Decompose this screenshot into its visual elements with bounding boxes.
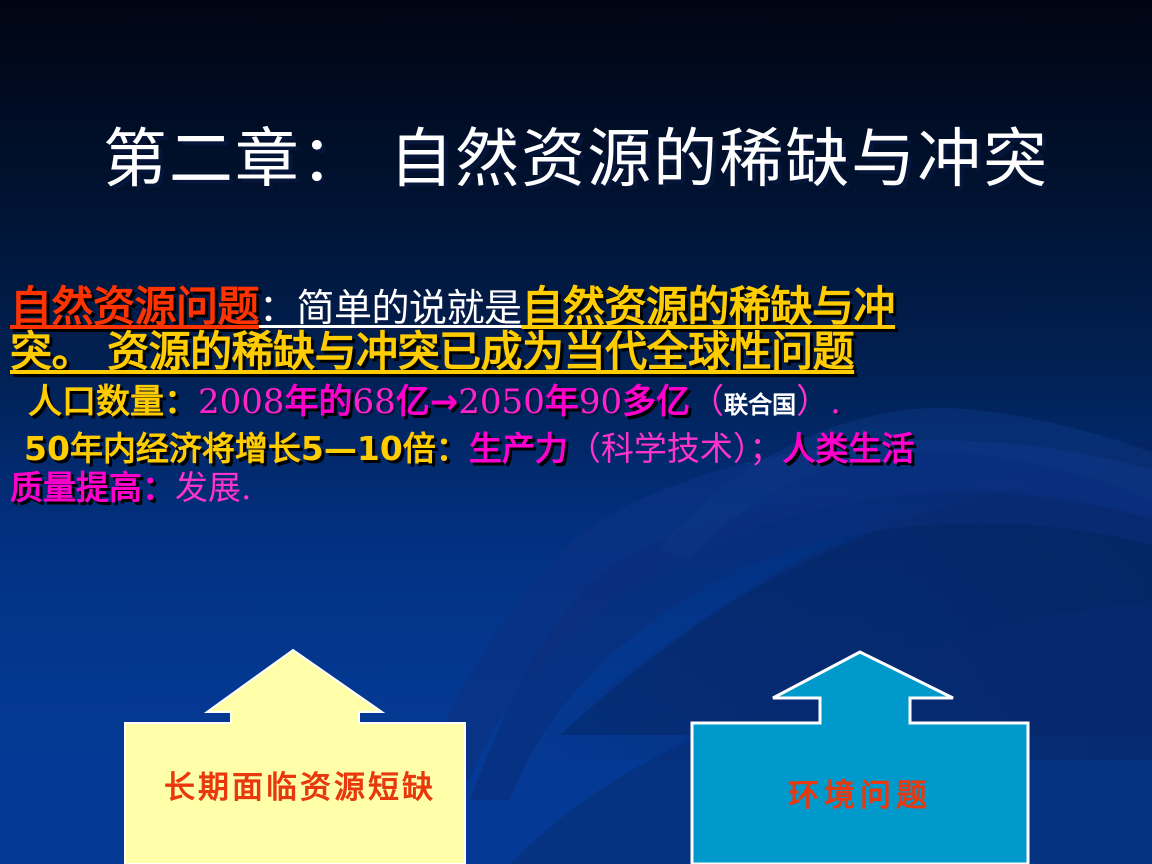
paragraph-economy: 50年内经济将增长5—10倍：生产力（科学技术）；人类生活 — [10, 432, 1142, 467]
paragraph-definition: 自然资源问题：简单的说就是自然资源的稀缺与冲 — [10, 285, 1142, 330]
economy-growth-label: 50年内经济将增长5—10倍： — [24, 429, 469, 468]
population-arrow-icon: → — [430, 382, 459, 422]
slide-body: 自然资源问题：简单的说就是自然资源的稀缺与冲 突。 资源的稀缺与冲突已成为当代全… — [0, 285, 1152, 506]
quality-value: 发展. — [175, 468, 252, 507]
source-paren-close: ） — [796, 382, 830, 422]
paragraph-population: 人口数量：2008年的68亿→2050年90多亿（联合国）. — [10, 384, 1142, 420]
population-year-2050: 2050 — [458, 382, 545, 422]
population-year-char: 年 — [545, 382, 579, 422]
definition-value-part2: 突。 资源的稀缺与冲突已成为当代全球性问题 — [10, 327, 854, 376]
economy-separator: ； — [749, 429, 782, 468]
population-of-text: 年的 — [285, 382, 353, 422]
right-arrow-icon — [670, 640, 1050, 864]
population-source: 联合国 — [724, 391, 796, 419]
quality-label: 质量提高： — [10, 468, 175, 507]
right-arrow-label: 环境问题 — [670, 770, 1050, 815]
right-arrow-shape[interactable]: 环境问题 — [670, 640, 1050, 864]
slide-title: 第二章： 自然资源的稀缺与冲突 — [0, 128, 1152, 192]
population-unit-yi-2: 多亿 — [622, 382, 690, 422]
population-label: 人口数量： — [28, 382, 198, 422]
paragraph-quality: 质量提高：发展. — [10, 471, 1142, 506]
population-unit-yi-1: 亿 — [396, 382, 430, 422]
population-period: . — [830, 382, 841, 422]
left-arrow-label: 长期面临资源短缺 — [110, 762, 490, 807]
paragraph-definition-line2: 突。 资源的稀缺与冲突已成为当代全球性问题 — [10, 330, 1142, 375]
population-value-68: 68 — [353, 382, 396, 422]
economy-term-productivity-note: （科学技术） — [568, 429, 750, 468]
source-paren-open: （ — [690, 382, 724, 422]
left-arrow-shape[interactable]: 长期面临资源短缺 — [110, 640, 490, 864]
definition-connector: ：简单的说就是 — [259, 286, 522, 330]
presentation-slide: 第二章： 自然资源的稀缺与冲突 自然资源问题：简单的说就是自然资源的稀缺与冲 突… — [0, 0, 1152, 864]
population-value-90: 90 — [579, 382, 622, 422]
population-year-2008: 2008 — [198, 382, 285, 422]
term-natural-resource-problem: 自然资源问题 — [10, 282, 259, 331]
definition-value-part1: 自然资源的稀缺与冲 — [522, 282, 896, 331]
economy-term-productivity: 生产力 — [469, 429, 568, 468]
left-arrow-icon — [110, 640, 490, 864]
economy-term-human-life: 人类生活 — [782, 429, 914, 468]
